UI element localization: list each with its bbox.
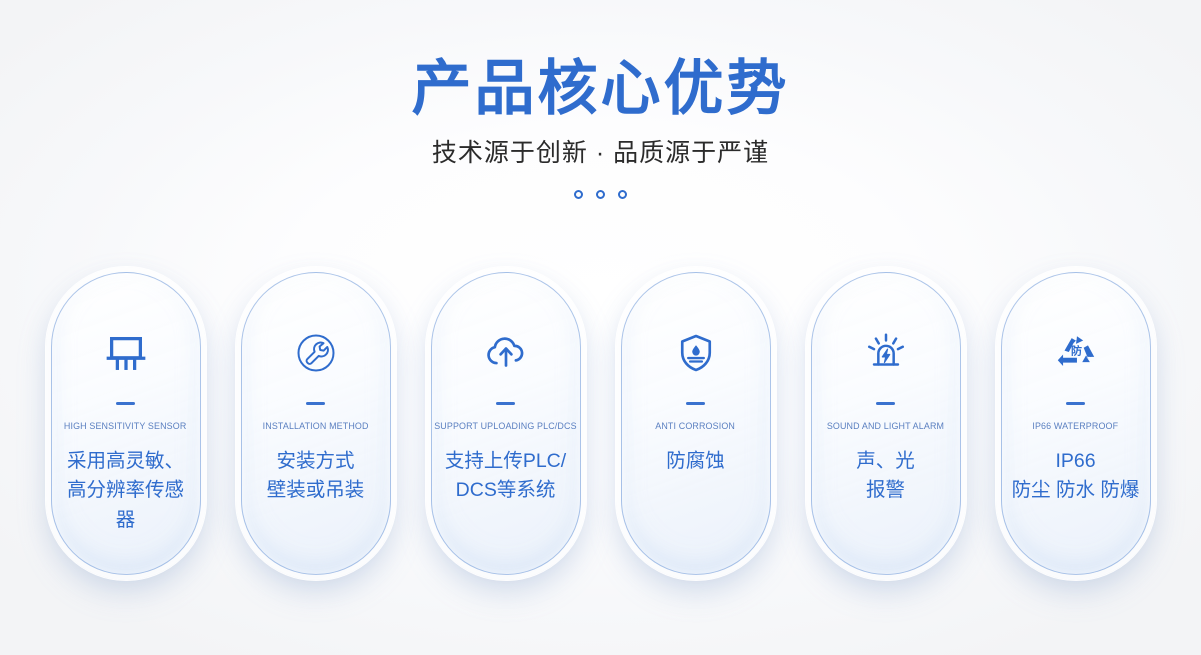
protection-arrows-icon: 防 — [1049, 326, 1103, 380]
feature-card[interactable]: INSTALLATION METHOD 安装方式 壁装或吊装 — [241, 272, 391, 575]
card-separator — [306, 402, 325, 405]
page-header: 产品核心优势 技术源于创新 · 品质源于严谨 — [0, 0, 1201, 199]
wrench-circle-icon — [289, 326, 343, 380]
feature-card[interactable]: SOUND AND LIGHT ALARM 声、光 报警 — [811, 272, 961, 575]
card-separator — [116, 402, 135, 405]
feature-card[interactable]: SUPPORT UPLOADING PLC/DCS 支持上传PLC/ DCS等系… — [431, 272, 581, 575]
card-separator — [876, 402, 895, 405]
card-cn-label: IP66 防尘 防水 防爆 — [1006, 447, 1146, 506]
alarm-siren-icon — [859, 326, 913, 380]
card-en-label: HIGH SENSITIVITY SENSOR — [64, 421, 187, 431]
page-subtitle: 技术源于创新 · 品质源于严谨 — [0, 137, 1201, 170]
card-en-label: IP66 WATERPROOF — [1033, 421, 1119, 431]
sensor-chip-icon — [99, 326, 153, 380]
feature-card[interactable]: ANTI CORROSION 防腐蚀 — [621, 272, 771, 575]
card-cn-label: 防腐蚀 — [660, 447, 731, 476]
feature-card[interactable]: HIGH SENSITIVITY SENSOR 采用高灵敏、 高分辨率传感器 — [51, 272, 201, 575]
card-separator — [1066, 402, 1085, 405]
carousel-dot-icon[interactable] — [574, 190, 583, 199]
carousel-dots — [0, 190, 1201, 199]
card-separator — [686, 402, 705, 405]
card-en-label: SOUND AND LIGHT ALARM — [827, 421, 944, 431]
card-cn-label: 安装方式 壁装或吊装 — [261, 447, 371, 506]
card-en-label: SUPPORT UPLOADING PLC/DCS — [434, 421, 576, 431]
card-en-label: INSTALLATION METHOD — [263, 421, 369, 431]
carousel-dot-icon[interactable] — [596, 190, 605, 199]
svg-text:防: 防 — [1070, 343, 1081, 357]
page-title: 产品核心优势 — [0, 54, 1201, 123]
card-cn-label: 声、光 报警 — [850, 447, 921, 506]
shield-droplet-icon — [669, 326, 723, 380]
card-cn-label: 采用高灵敏、 高分辨率传感器 — [52, 447, 200, 535]
feature-card-row: HIGH SENSITIVITY SENSOR 采用高灵敏、 高分辨率传感器 I… — [0, 272, 1201, 575]
cloud-upload-icon — [479, 326, 533, 380]
feature-card[interactable]: 防 IP66 WATERPROOF IP66 防尘 防水 防爆 — [1001, 272, 1151, 575]
card-cn-label: 支持上传PLC/ DCS等系统 — [439, 447, 572, 506]
card-en-label: ANTI CORROSION — [656, 421, 736, 431]
carousel-dot-icon[interactable] — [618, 190, 627, 199]
card-separator — [496, 402, 515, 405]
